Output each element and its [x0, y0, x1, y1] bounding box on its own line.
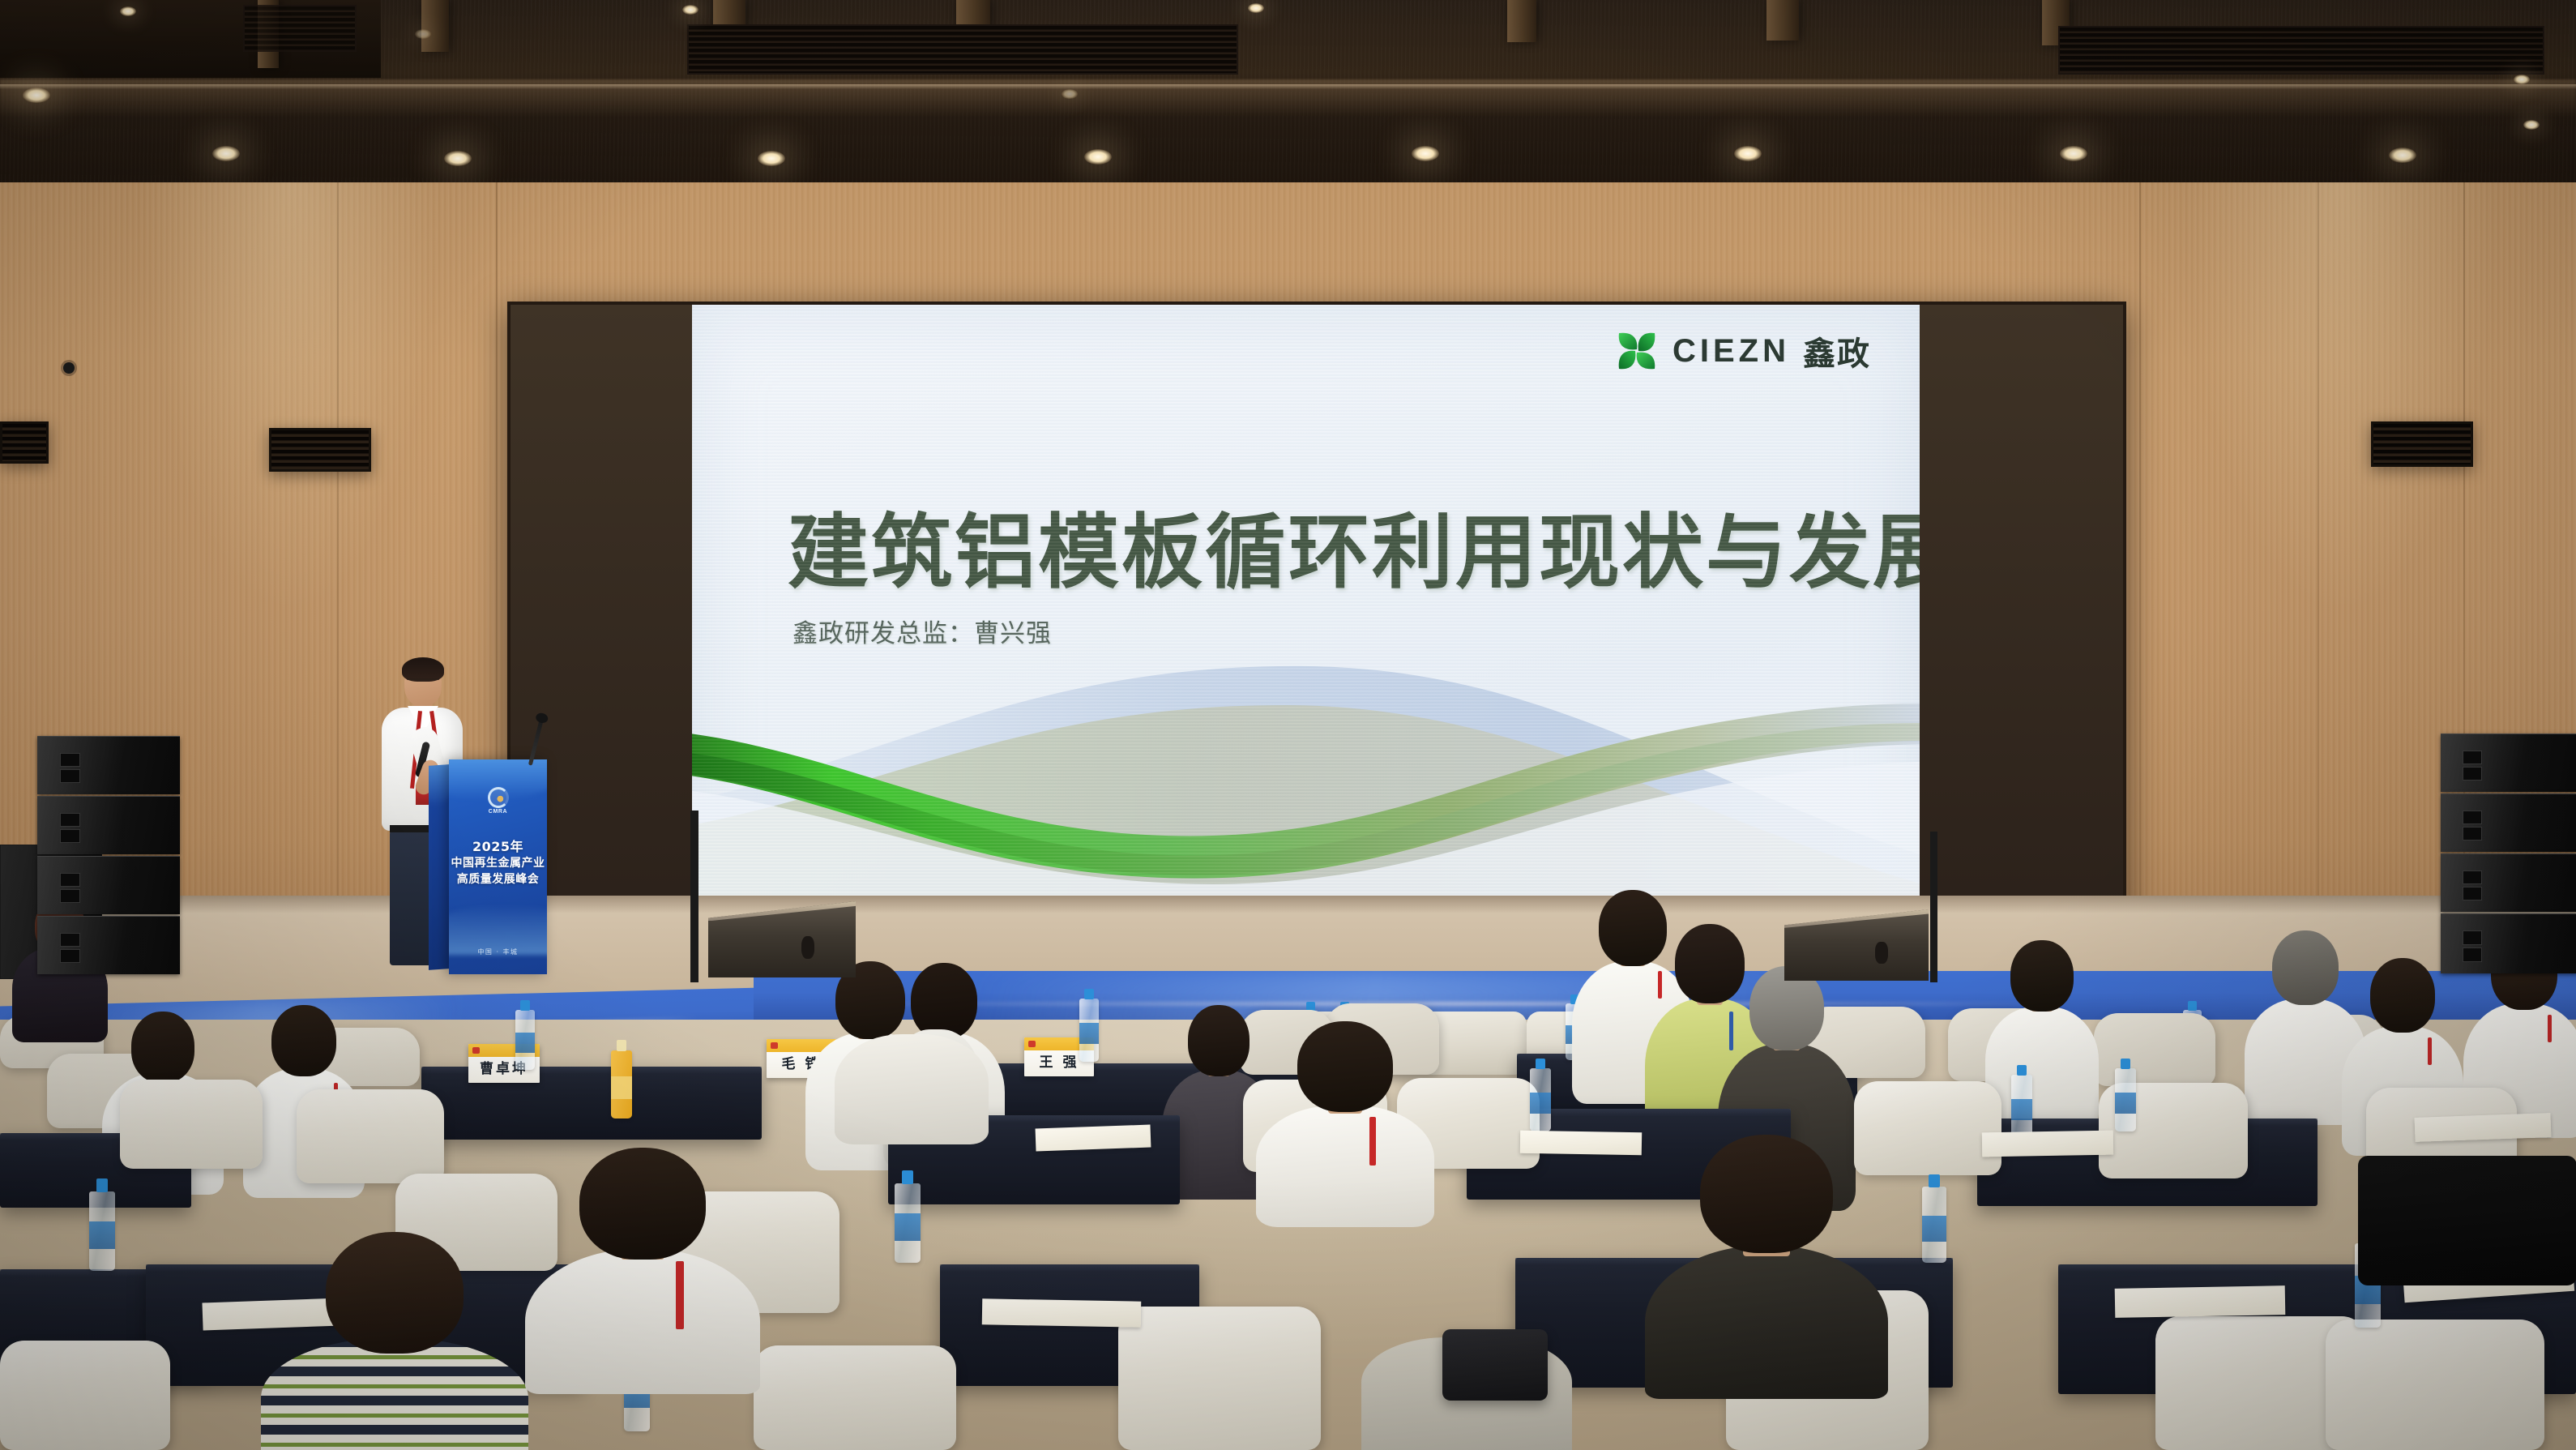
attendee-front-white-lanyard	[676, 1261, 684, 1329]
attendee-right-6-head	[2370, 958, 2435, 1033]
water-bottle-10	[2115, 1068, 2136, 1131]
ceiling-vent-grille-far-left	[243, 5, 357, 52]
bottle-cap-10	[2017, 1065, 2027, 1076]
ceiling-downlight-15	[415, 29, 431, 39]
attendee-front-white-2-body	[1256, 1106, 1434, 1227]
ceiling-vent-grille-left	[687, 24, 1238, 75]
attendee-front-white-2-head	[1297, 1021, 1393, 1112]
bottle-label-11	[2115, 1093, 2136, 1114]
handout-paper-3	[1520, 1131, 1642, 1156]
podium-title-line-2: 中国再生金属产业	[449, 855, 547, 871]
tea-bottle-1	[611, 1050, 632, 1119]
ceiling-beam-5	[1507, 0, 1536, 42]
ceiling-downlight-4	[758, 151, 785, 166]
attendee-front-grey	[835, 960, 989, 1138]
chair-r3-1	[120, 1080, 263, 1169]
presentation-slide: CIEZN 鑫政 建筑铝模板循环利用现状与发展趋势 鑫政研发总监：曹兴强	[692, 305, 1920, 930]
ceiling-beam-2	[421, 0, 449, 52]
ceiling-downlight-7	[1734, 146, 1762, 161]
cmra-association-logo: CMRA	[485, 787, 512, 819]
attendee-right-5-head	[2272, 930, 2339, 1005]
mic-stand-right	[1930, 832, 1937, 982]
table-r4-mid-top	[940, 1264, 1199, 1272]
ceiling-downlight-9	[2389, 148, 2416, 163]
chair-r4-1	[0, 1341, 170, 1450]
slide-subtitle: 鑫政研发总监：曹兴强	[792, 613, 1052, 649]
logo-text-en: CIEZN	[1672, 333, 1790, 370]
stage-monitor-left-handle	[801, 936, 814, 959]
attendee-right-6-lanyard	[2428, 1037, 2432, 1065]
attendee-front-dark	[1645, 1135, 1888, 1394]
ceiling-downlight-13	[2514, 75, 2530, 84]
wall-vent-panel-far-left	[0, 421, 49, 464]
attendee-front-striped-head	[326, 1232, 464, 1354]
ceiling-cove-edge	[0, 84, 2576, 89]
wall-seam-3	[2139, 182, 2141, 985]
slide-brand-logo: CIEZN 鑫政	[1614, 327, 1871, 374]
attendee-right-4	[1985, 940, 2099, 1119]
bottle-label-9	[1530, 1093, 1551, 1114]
line-array-left-box-4	[37, 916, 180, 974]
ceiling-downlight-2	[212, 146, 240, 161]
bottle-label-13	[895, 1213, 921, 1240]
ceiling-downlight-1	[23, 88, 50, 103]
handout-paper-7	[2115, 1285, 2286, 1318]
bottle-cap-1	[520, 1000, 529, 1011]
water-bottle-8	[1530, 1068, 1551, 1131]
water-bottle-1	[515, 1010, 535, 1070]
wall-seam-4	[2318, 182, 2319, 985]
bottle-label-4	[1079, 1023, 1099, 1045]
attendee-front-white	[525, 1148, 760, 1391]
ceiling-downlight-8	[2060, 146, 2087, 161]
ciezn-pinwheel-icon	[1614, 328, 1660, 374]
attendee-front-dark-head	[1700, 1135, 1833, 1253]
line-array-right	[2441, 734, 2576, 982]
line-array-right-box-2	[2441, 793, 2576, 852]
wall-vent-panel-left	[269, 428, 371, 472]
chair-r4-4	[1118, 1307, 1321, 1450]
mic-stand-left	[690, 811, 698, 982]
handout-paper-2	[1982, 1131, 2113, 1157]
chair-r4-3	[754, 1345, 956, 1450]
chair-r3-2	[297, 1089, 444, 1183]
podium-front-panel: CMRA 2025年 中国再生金属产业 高质量发展峰会 中国 · 丰城	[449, 759, 547, 974]
ceiling-downlight-11	[682, 5, 698, 15]
attendee-left-3-head	[271, 1005, 336, 1076]
stage-fascia-streak-right	[851, 1002, 2066, 1006]
chair-r2-6	[2094, 1013, 2215, 1086]
attendee-front-white-2-lanyard	[1369, 1117, 1376, 1166]
bottle-cap-9	[1536, 1059, 1545, 1069]
podium-event-title: 2025年 中国再生金属产业 高质量发展峰会	[449, 839, 547, 888]
ceiling-vent-grille-right	[2058, 26, 2544, 75]
attendee-front-grey-body	[835, 1034, 989, 1144]
line-array-left-box-1	[37, 736, 180, 794]
bottle-cap-11	[2121, 1059, 2130, 1069]
attendee-right-7-lanyard	[2548, 1015, 2552, 1042]
line-array-right-box-1	[2441, 734, 2576, 792]
line-array-left-box-3	[37, 856, 180, 914]
ceiling-downlight-12	[1248, 3, 1264, 13]
podium-title-line-3: 高质量发展峰会	[449, 871, 547, 888]
stage-monitor-right-handle	[1875, 942, 1888, 963]
water-bottle-11	[89, 1191, 115, 1271]
attendee-front-dark-body	[1645, 1245, 1888, 1399]
led-panel-dark-right	[1916, 305, 2123, 930]
attendee-mid-4-head	[1188, 1005, 1250, 1076]
attendee-bag	[1442, 1329, 1548, 1401]
ceiling-downlight-16	[1062, 89, 1078, 99]
ceiling-beam-6	[1766, 0, 1799, 41]
attendee-front-right-body	[2358, 1156, 2576, 1285]
water-bottle-14	[1922, 1187, 1946, 1263]
handout-paper-6	[982, 1298, 1142, 1327]
slide-title: 建筑铝模板循环利用现状与发展趋势	[788, 486, 1920, 604]
bottle-label-15	[1922, 1216, 1946, 1242]
handout-paper-4	[2415, 1113, 2552, 1142]
podium: CMRA 2025年 中国再生金属产业 高质量发展峰会 中国 · 丰城	[429, 759, 547, 974]
ceiling-downlight-14	[2523, 120, 2540, 130]
attendee-left-2-head	[131, 1012, 194, 1083]
ceiling	[0, 0, 2576, 190]
bottle-cap-12	[96, 1178, 109, 1192]
attendee-front-striped-body	[261, 1337, 528, 1450]
bottle-cap-8	[2188, 1001, 2197, 1011]
podium-title-line-1: 2025年	[449, 839, 547, 855]
presenter-glasses-icon	[407, 678, 439, 686]
line-array-left-box-2	[37, 796, 180, 854]
line-array-right-box-4	[2441, 913, 2576, 973]
water-bottle-3	[1079, 999, 1099, 1062]
led-video-wall: CIEZN 鑫政 建筑铝模板循环利用现状与发展趋势 鑫政研发总监：曹兴强	[507, 302, 2126, 934]
line-array-right-box-3	[2441, 853, 2576, 912]
attendee-right-4-head	[2010, 940, 2074, 1012]
cmra-logo-label: CMRA	[485, 809, 512, 815]
water-bottle-12	[895, 1183, 921, 1263]
attendee-front-striped	[261, 1232, 528, 1450]
ceiling-downlight-10	[120, 6, 136, 16]
attendee-front-right	[2358, 1156, 2576, 1358]
water-bottle-9	[2011, 1075, 2032, 1138]
bottle-label-12	[89, 1221, 115, 1248]
line-array-left	[37, 736, 180, 982]
attendee-front-white-body	[525, 1248, 760, 1394]
podium-side-panel	[429, 764, 451, 970]
cmra-ring-icon	[488, 787, 509, 808]
logo-text-cn: 鑫政	[1803, 327, 1871, 374]
ceiling-camera-dome	[63, 362, 75, 374]
bottle-cap-2	[617, 1040, 626, 1051]
attendee-front-white-head	[579, 1148, 706, 1260]
podium-wave-top-side	[429, 764, 451, 806]
attendee-front-white-2	[1256, 1021, 1434, 1224]
bottle-cap-4	[1084, 989, 1093, 999]
bottle-cap-15	[1929, 1174, 1940, 1187]
ceiling-downlight-3	[444, 151, 472, 166]
bottle-label-2	[611, 1076, 632, 1100]
attendee-right-4-body	[1985, 1007, 2099, 1128]
conference-hall-scene: CIEZN 鑫政 建筑铝模板循环利用现状与发展趋势 鑫政研发总监：曹兴强 CMR	[0, 0, 2576, 1450]
wall-seam-1	[337, 182, 339, 985]
ceiling-downlight-6	[1412, 146, 1439, 161]
bottle-label-1	[515, 1033, 535, 1053]
podium-location-label: 中国 · 丰城	[449, 947, 547, 956]
ceiling-downlight-5	[1084, 149, 1112, 165]
handout-paper-1	[1036, 1125, 1151, 1152]
bottle-cap-13	[902, 1170, 914, 1184]
wall-vent-panel-right	[2371, 421, 2473, 467]
bottle-label-10	[2011, 1099, 2032, 1121]
